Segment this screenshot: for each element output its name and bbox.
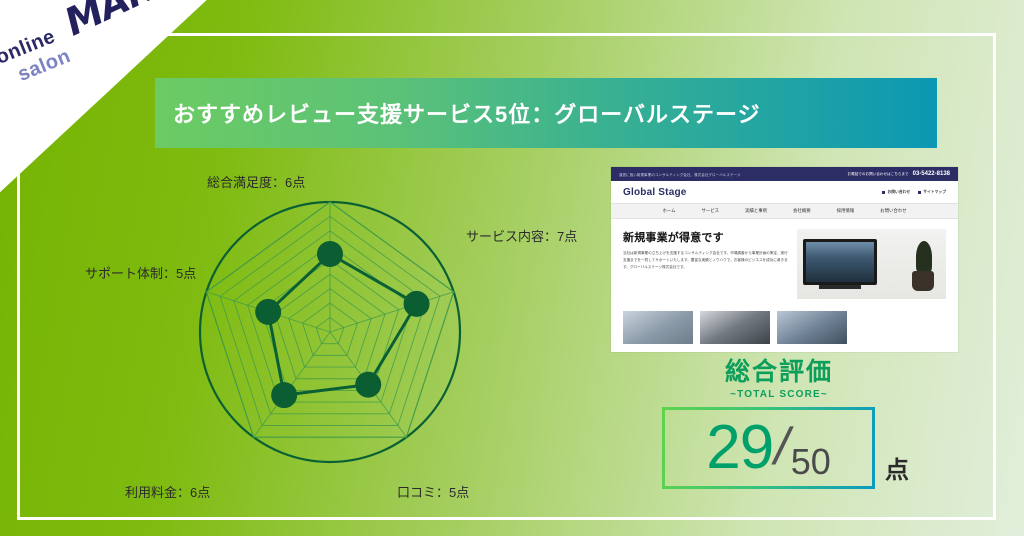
radar-axis-3 — [254, 332, 330, 437]
radar-point-1 — [404, 291, 430, 317]
thumbnail-hero-heading: 新規事業が得意です — [623, 229, 791, 245]
radar-chart: 総合満足度：6点 サービス内容：7点 口コミ：5点 利用料金：6点 サポート体制… — [60, 160, 600, 520]
monitor-screen — [806, 242, 874, 282]
total-score-box: 29 / 50 — [662, 407, 875, 489]
radar-point-4 — [255, 299, 281, 325]
thumbnail-hero-image — [797, 229, 946, 299]
thumbnail-nav: ホームサービス実績と事例会社概要採用情報お問い合わせ — [611, 203, 958, 219]
radar-label-0: 総合満足度：6点 — [207, 172, 305, 191]
thumbnail-photo-2 — [700, 311, 770, 344]
thumbnail-nav-item-3: 会社概要 — [793, 208, 811, 214]
monitor-stand — [819, 285, 861, 289]
plant-icon — [906, 233, 940, 291]
thumbnail-hero-body: 当社は新規事業の立ち上げを支援するコンサルティング会社です。市場調査から事業計画… — [623, 250, 791, 270]
thumbnail-brand-link-0: お問い合わせ — [882, 190, 910, 195]
total-score-max: 50 — [791, 444, 831, 480]
thumbnail-topbar-tel: 03-5422-8138 — [913, 171, 950, 177]
thumbnail-photo-strip — [611, 299, 958, 344]
thumbnail-brand-name: Global Stage — [623, 187, 687, 198]
plant-leaf — [916, 241, 932, 273]
radar-point-0 — [317, 241, 343, 267]
slide-canvas: online salon MANIA おすすめレビュー支援サービス5位：グローバ… — [0, 0, 1024, 536]
total-score-block: 総合評価 ~TOTAL SCORE~ 29 / 50 点 — [640, 360, 940, 520]
total-score-subheading: ~TOTAL SCORE~ — [618, 389, 940, 400]
website-thumbnail[interactable]: 運営に強い新規事業のコンサルティング会社、株式会社グローバルステージ お電話での… — [611, 167, 958, 352]
thumbnail-topbar-text: 運営に強い新規事業のコンサルティング会社、株式会社グローバルステージ — [619, 172, 741, 177]
thumbnail-photo-3 — [777, 311, 847, 344]
square-bullet-icon — [918, 191, 921, 194]
total-score-heading: 総合評価 — [618, 360, 940, 385]
monitor-icon — [803, 239, 877, 285]
thumbnail-nav-item-4: 採用情報 — [837, 208, 855, 214]
radar-point-3 — [271, 382, 297, 408]
total-score-row: 29 / 50 点 — [640, 407, 940, 489]
radar-label-2: 口コミ：5点 — [397, 482, 469, 501]
thumbnail-brand-row: Global Stage お問い合わせ サイトマップ — [611, 181, 958, 203]
thumbnail-nav-item-2: 実績と事例 — [745, 208, 767, 214]
thumbnail-nav-item-0: ホーム — [662, 208, 675, 214]
thumbnail-brand-link-1: サイトマップ — [918, 190, 946, 195]
plant-pot — [912, 271, 934, 291]
radar-point-2 — [355, 372, 381, 398]
total-score-value: 29 — [706, 417, 773, 479]
thumbnail-topbar: 運営に強い新規事業のコンサルティング会社、株式会社グローバルステージ お電話での… — [611, 167, 958, 181]
thumbnail-nav-item-1: サービス — [701, 208, 719, 214]
thumbnail-hero: 新規事業が得意です 当社は新規事業の立ち上げを支援するコンサルティング会社です。… — [611, 219, 958, 299]
thumbnail-hero-text: 新規事業が得意です 当社は新規事業の立ち上げを支援するコンサルティング会社です。… — [623, 229, 791, 299]
radar-svg — [175, 182, 485, 492]
title-bar: おすすめレビュー支援サービス5位：グローバルステージ — [155, 78, 937, 148]
radar-label-4: サポート体制：5点 — [85, 263, 196, 282]
radar-label-3: 利用料金：6点 — [125, 482, 210, 501]
thumbnail-brand-links: お問い合わせ サイトマップ — [882, 190, 946, 195]
square-bullet-icon — [882, 191, 885, 194]
thumbnail-photo-1 — [623, 311, 693, 344]
radar-label-1: サービス内容：7点 — [466, 226, 577, 245]
thumbnail-nav-item-5: お問い合わせ — [880, 208, 906, 214]
thumbnail-topbar-contact: お電話でのお問い合わせはこちらまで 03-5422-8138 — [848, 171, 950, 177]
page-title: おすすめレビュー支援サービス5位：グローバルステージ — [173, 97, 761, 129]
thumbnail-topbar-contact-label: お電話でのお問い合わせはこちらまで — [848, 172, 909, 177]
total-score-unit: 点 — [885, 450, 909, 485]
